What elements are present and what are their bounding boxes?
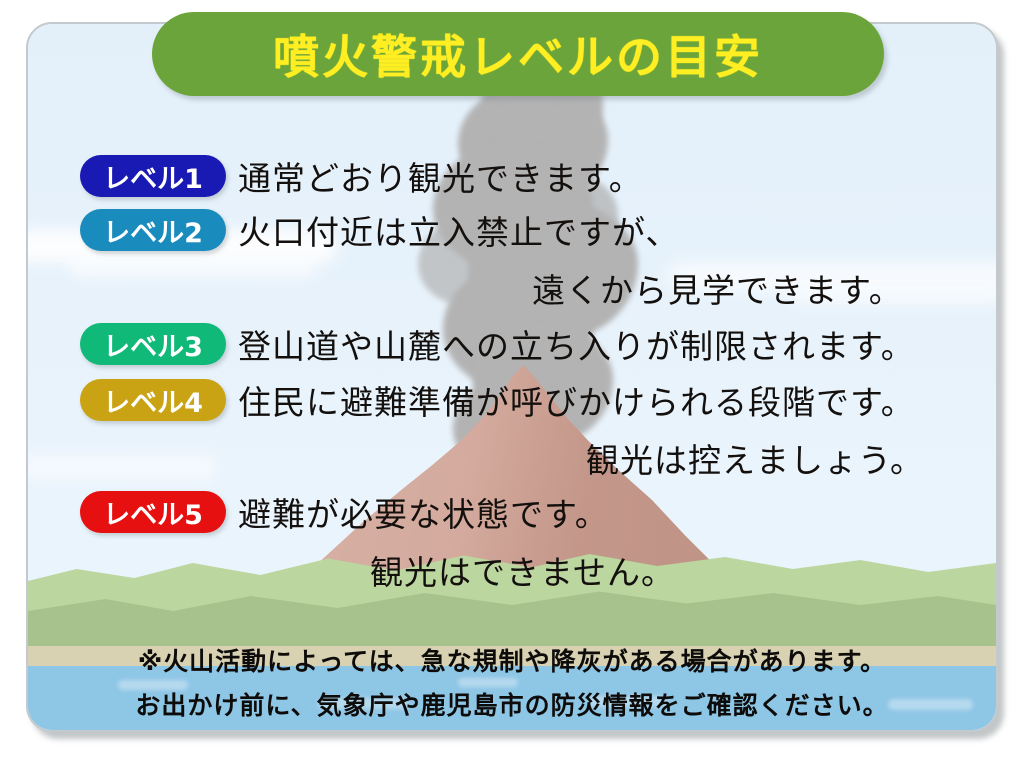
level-description-5-continued: 観光はできません。 bbox=[370, 546, 675, 594]
level-badge-3[interactable]: レベル3 bbox=[80, 323, 226, 365]
level-description-4: 住民に避難準備が呼びかけられる段階です。 bbox=[238, 376, 915, 424]
level-description-1: 通常どおり観光できます。 bbox=[238, 152, 643, 200]
level-row-1[interactable]: レベル1 通常どおり観光できます。 bbox=[80, 152, 643, 200]
level-description-2: 火口付近は立入禁止ですが、 bbox=[238, 206, 679, 254]
level-description-2-continued: 遠くから見学できます。 bbox=[532, 264, 903, 312]
level-row-3[interactable]: レベル3 登山道や山麓への立ち入りが制限されます。 bbox=[80, 320, 915, 368]
level-badge-1[interactable]: レベル1 bbox=[80, 155, 226, 197]
level-description-3: 登山道や山麓への立ち入りが制限されます。 bbox=[238, 320, 915, 368]
footer-note-1: ※火山活動によっては、急な規制や降灰がある場合があります。 bbox=[28, 642, 996, 678]
footer-note-2: お出かけ前に、気象庁や鹿児島市の防災情報をご確認ください。 bbox=[28, 686, 996, 722]
level-row-5[interactable]: レベル5 避難が必要な状態です。 bbox=[80, 488, 609, 536]
level-row-2[interactable]: レベル2 火口付近は立入禁止ですが、 bbox=[80, 206, 679, 254]
level-badge-2[interactable]: レベル2 bbox=[80, 209, 226, 251]
page-title: 噴火警戒レベルの目安 bbox=[273, 21, 763, 87]
infographic-poster: ※火山活動によっては、急な規制や降灰がある場合があります。 お出かけ前に、気象庁… bbox=[0, 0, 1024, 768]
level-description-5: 避難が必要な状態です。 bbox=[238, 488, 609, 536]
level-badge-4[interactable]: レベル4 bbox=[80, 379, 226, 421]
cloud-shape bbox=[68, 256, 318, 278]
level-description-4-continued: 観光は控えましょう。 bbox=[586, 434, 924, 482]
level-badge-5[interactable]: レベル5 bbox=[80, 491, 226, 533]
level-row-4[interactable]: レベル4 住民に避難準備が呼びかけられる段階です。 bbox=[80, 376, 915, 424]
title-banner: 噴火警戒レベルの目安 bbox=[152, 12, 884, 96]
